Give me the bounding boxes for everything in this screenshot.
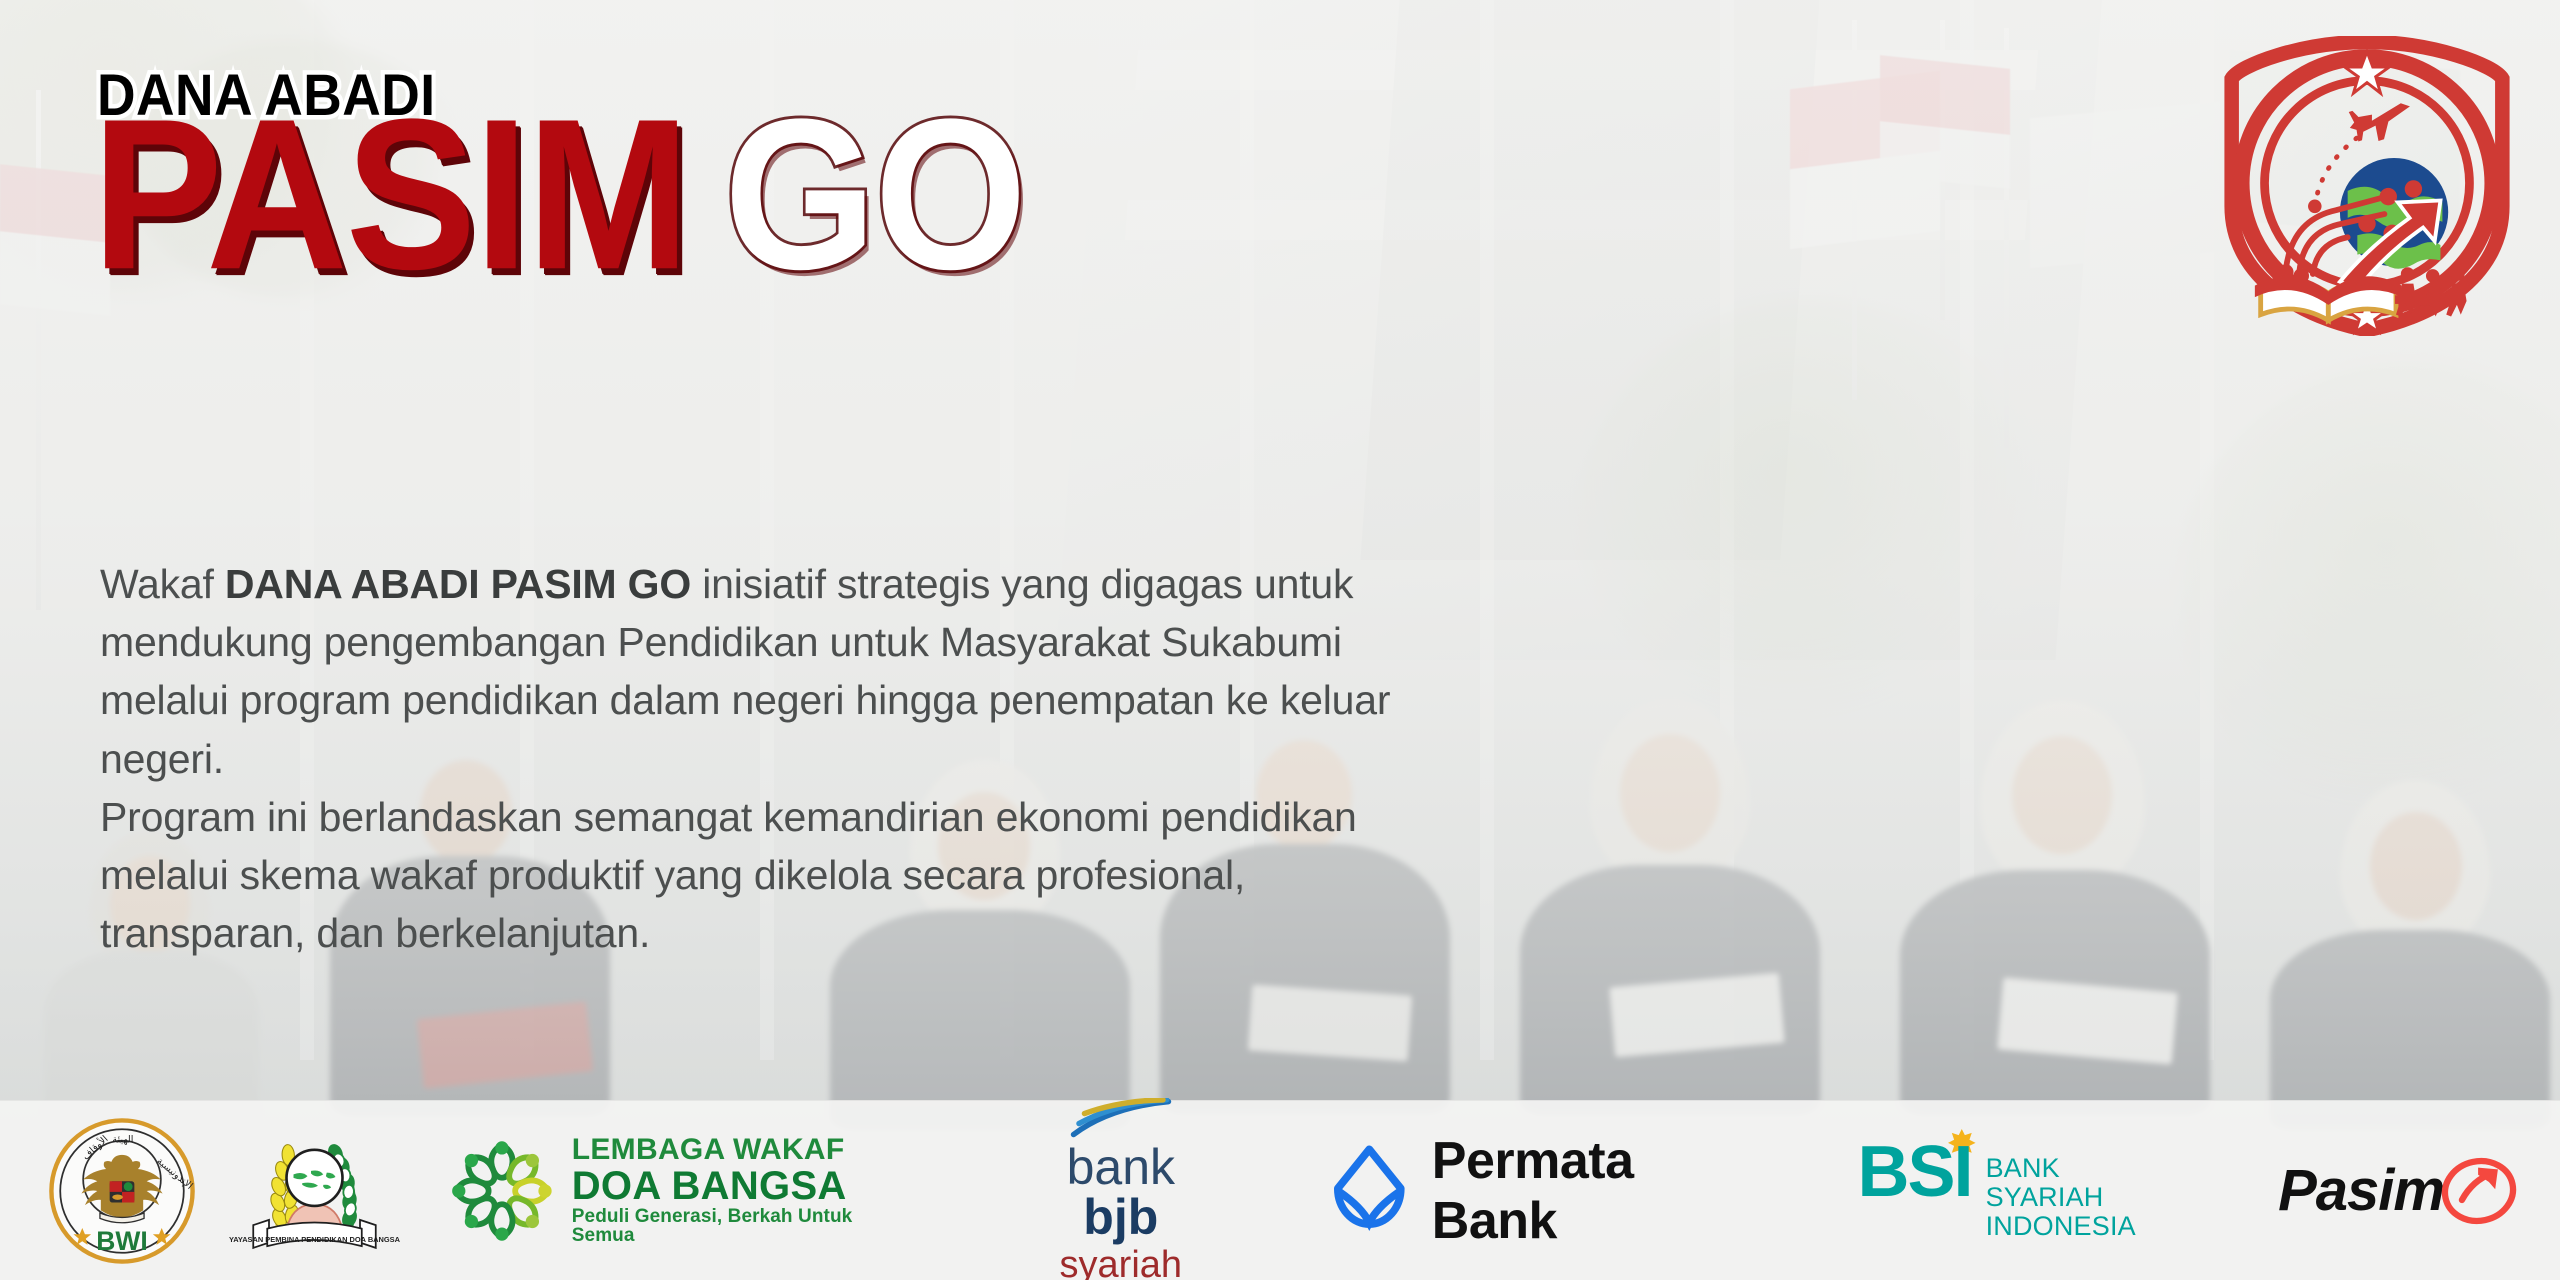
lwdb-line-1: LEMBAGA WAKAF [572, 1135, 891, 1166]
permata-bank-logo: Permata Bank [1331, 1131, 1742, 1251]
ypdb-svg: YAYASAN PEMBINA PENDIDIKAN DOA BANGSA [227, 1116, 402, 1266]
bwi-label: BWI [97, 1226, 148, 1256]
bsi-wordmark: BANK SYARIAH INDONESIA [1986, 1140, 2159, 1241]
permata-wordmark: Permata Bank [1432, 1131, 1743, 1251]
pasim-go-emblem-svg [2222, 36, 2512, 336]
bjb-line-1: bank bjb [1030, 1142, 1211, 1242]
paragraph-lead: Wakaf [100, 561, 225, 607]
ribbon: YAYASAN PEMBINA PENDIDIKAN DOA BANGSA [229, 1219, 401, 1247]
pasim-go-logo: Pasim [2278, 1155, 2520, 1227]
lwdb-line-2: DOA BANGSA [572, 1166, 891, 1207]
paragraph-bold-term: DANA ABADI PASIM GO [225, 561, 691, 607]
bjb-word-bjb: bjb [1083, 1189, 1158, 1245]
path-node [2308, 200, 2322, 214]
headline-go: GO [724, 88, 1025, 303]
bjb-word-syariah: syariah [1030, 1246, 1211, 1280]
headline-pasim: PASIM [92, 88, 688, 303]
page-title: PASIM GO [92, 118, 1008, 303]
bwi-seal-svg: BWI الأوقاف الهيئة الإندونيسية [47, 1116, 197, 1266]
pasim-wordmark: Pasim [2278, 1157, 2444, 1224]
bjb-swoosh-icon [1066, 1098, 1176, 1140]
bsi-mark: BSI [1858, 1140, 1972, 1205]
description-paragraph: Wakaf DANA ABADI PASIM GO inisiatif stra… [100, 555, 1430, 963]
permata-leaf-icon [1331, 1140, 1408, 1242]
yayasan-pembina-pendidikan-doa-bangsa-logo: YAYASAN PEMBINA PENDIDIKAN DOA BANGSA [227, 1116, 402, 1266]
bsi-line-2: INDONESIA [1986, 1212, 2159, 1241]
bank-bjb-syariah-logo: bank bjb syariah [1030, 1098, 1211, 1280]
pasim-go-emblem [2222, 36, 2512, 336]
promotional-banner: DANA ABADI PASIM GO Wakaf DANA ABADI PAS… [0, 0, 2560, 1280]
ypdb-ribbon-text: YAYASAN PEMBINA PENDIDIKAN DOA BANGSA [229, 1234, 401, 1243]
bjb-word-bank: bank [1067, 1139, 1175, 1195]
bjb-wordmark: bank bjb syariah [1030, 1142, 1211, 1280]
banner-content: DANA ABADI PASIM GO Wakaf DANA ABADI PAS… [0, 0, 2560, 1280]
pasim-go-arrow-icon [2438, 1155, 2520, 1227]
bsi-line-1: BANK SYARIAH [1986, 1154, 2159, 1212]
lwdb-wordmark: LEMBAGA WAKAF DOA BANGSA Peduli Generasi… [572, 1135, 891, 1245]
bank-syariah-indonesia-logo: BSI BANK SYARIAH INDONESIA [1858, 1140, 2159, 1241]
badan-wakaf-indonesia-logo: BWI الأوقاف الهيئة الإندونيسية [40, 1116, 205, 1266]
lwdb-mark-svg [448, 1132, 556, 1250]
lembaga-wakaf-doa-bangsa-logo: LEMBAGA WAKAF DOA BANGSA Peduli Generasi… [448, 1132, 890, 1250]
lwdb-tagline: Peduli Generasi, Berkah Untuk Semua [572, 1207, 891, 1246]
paragraph-second: Program ini berlandaskan semangat kemand… [100, 794, 1357, 956]
svg-text:الهيئة: الهيئة [113, 1134, 134, 1145]
people-circle-icon [452, 1141, 552, 1241]
partner-logo-bar: BWI الأوقاف الهيئة الإندونيسية [0, 1100, 2560, 1280]
